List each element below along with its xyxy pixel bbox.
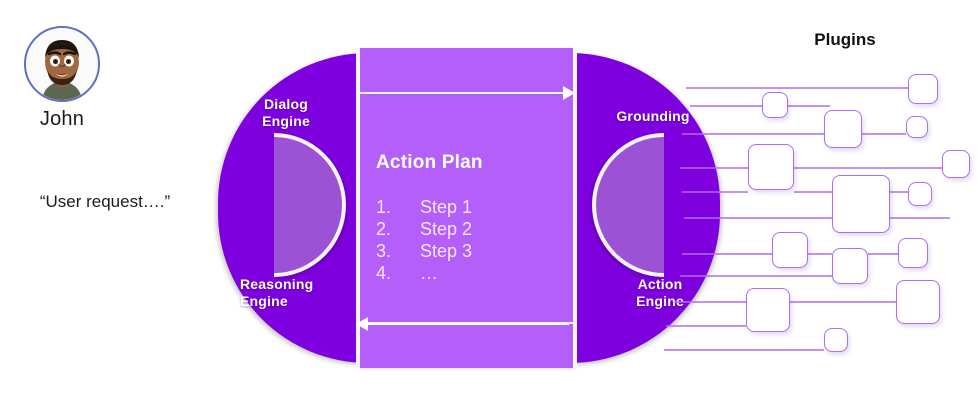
label-reasoning-line1: Reasoning (240, 276, 313, 292)
action-plan-title: Action Plan (376, 152, 576, 174)
action-plan-steps: 1. Step 1 2. Step 2 3. Step 3 4. … (376, 196, 576, 284)
plugin-node[interactable] (908, 182, 932, 206)
plugin-node[interactable] (942, 150, 970, 178)
step-number: 3. (376, 240, 420, 262)
user-request-quote: “User request….” (0, 192, 210, 212)
plugin-node[interactable] (906, 116, 928, 138)
list-item: 4. … (376, 262, 576, 284)
label-dialog-line1: Dialog (264, 96, 308, 112)
step-label: Step 3 (420, 240, 472, 262)
plugin-node[interactable] (908, 74, 938, 104)
plugin-node[interactable] (824, 110, 862, 148)
step-number: 4. (376, 262, 420, 284)
arrow-to-grounding-line (364, 92, 569, 94)
list-item: 2. Step 2 (376, 218, 576, 240)
arrow-right-head-icon (563, 86, 575, 100)
step-number: 1. (376, 196, 420, 218)
diagram-canvas: John “User request….” Dialog Engine Reas… (0, 0, 979, 402)
step-label: Step 2 (420, 218, 472, 240)
list-item: 1. Step 1 (376, 196, 576, 218)
plugin-node[interactable] (898, 238, 928, 268)
arrow-left-head-icon (356, 317, 368, 331)
avatar (24, 26, 100, 102)
label-dialog-line2: Engine (262, 113, 310, 129)
plugin-node[interactable] (772, 232, 808, 268)
plugins-title: Plugins (790, 30, 900, 50)
list-item: 3. Step 3 (376, 240, 576, 262)
plugin-node[interactable] (824, 328, 848, 352)
plugin-node[interactable] (832, 248, 868, 284)
avatar-ring (24, 26, 100, 102)
label-dialog-engine: Dialog Engine (226, 96, 346, 130)
user-avatar-illustration (26, 28, 98, 100)
arrow-to-reasoning-line (364, 323, 569, 325)
step-number: 2. (376, 218, 420, 240)
label-reasoning-engine: Reasoning Engine (222, 276, 354, 310)
step-label: Step 1 (420, 196, 472, 218)
plugin-node[interactable] (896, 280, 940, 324)
user-name: John (0, 108, 124, 131)
label-reasoning-line2: Engine (240, 293, 288, 309)
plugin-node[interactable] (748, 144, 794, 190)
plugin-node[interactable] (762, 92, 788, 118)
step-label: … (420, 262, 438, 284)
plugin-node[interactable] (746, 288, 790, 332)
plugin-node[interactable] (832, 175, 890, 233)
